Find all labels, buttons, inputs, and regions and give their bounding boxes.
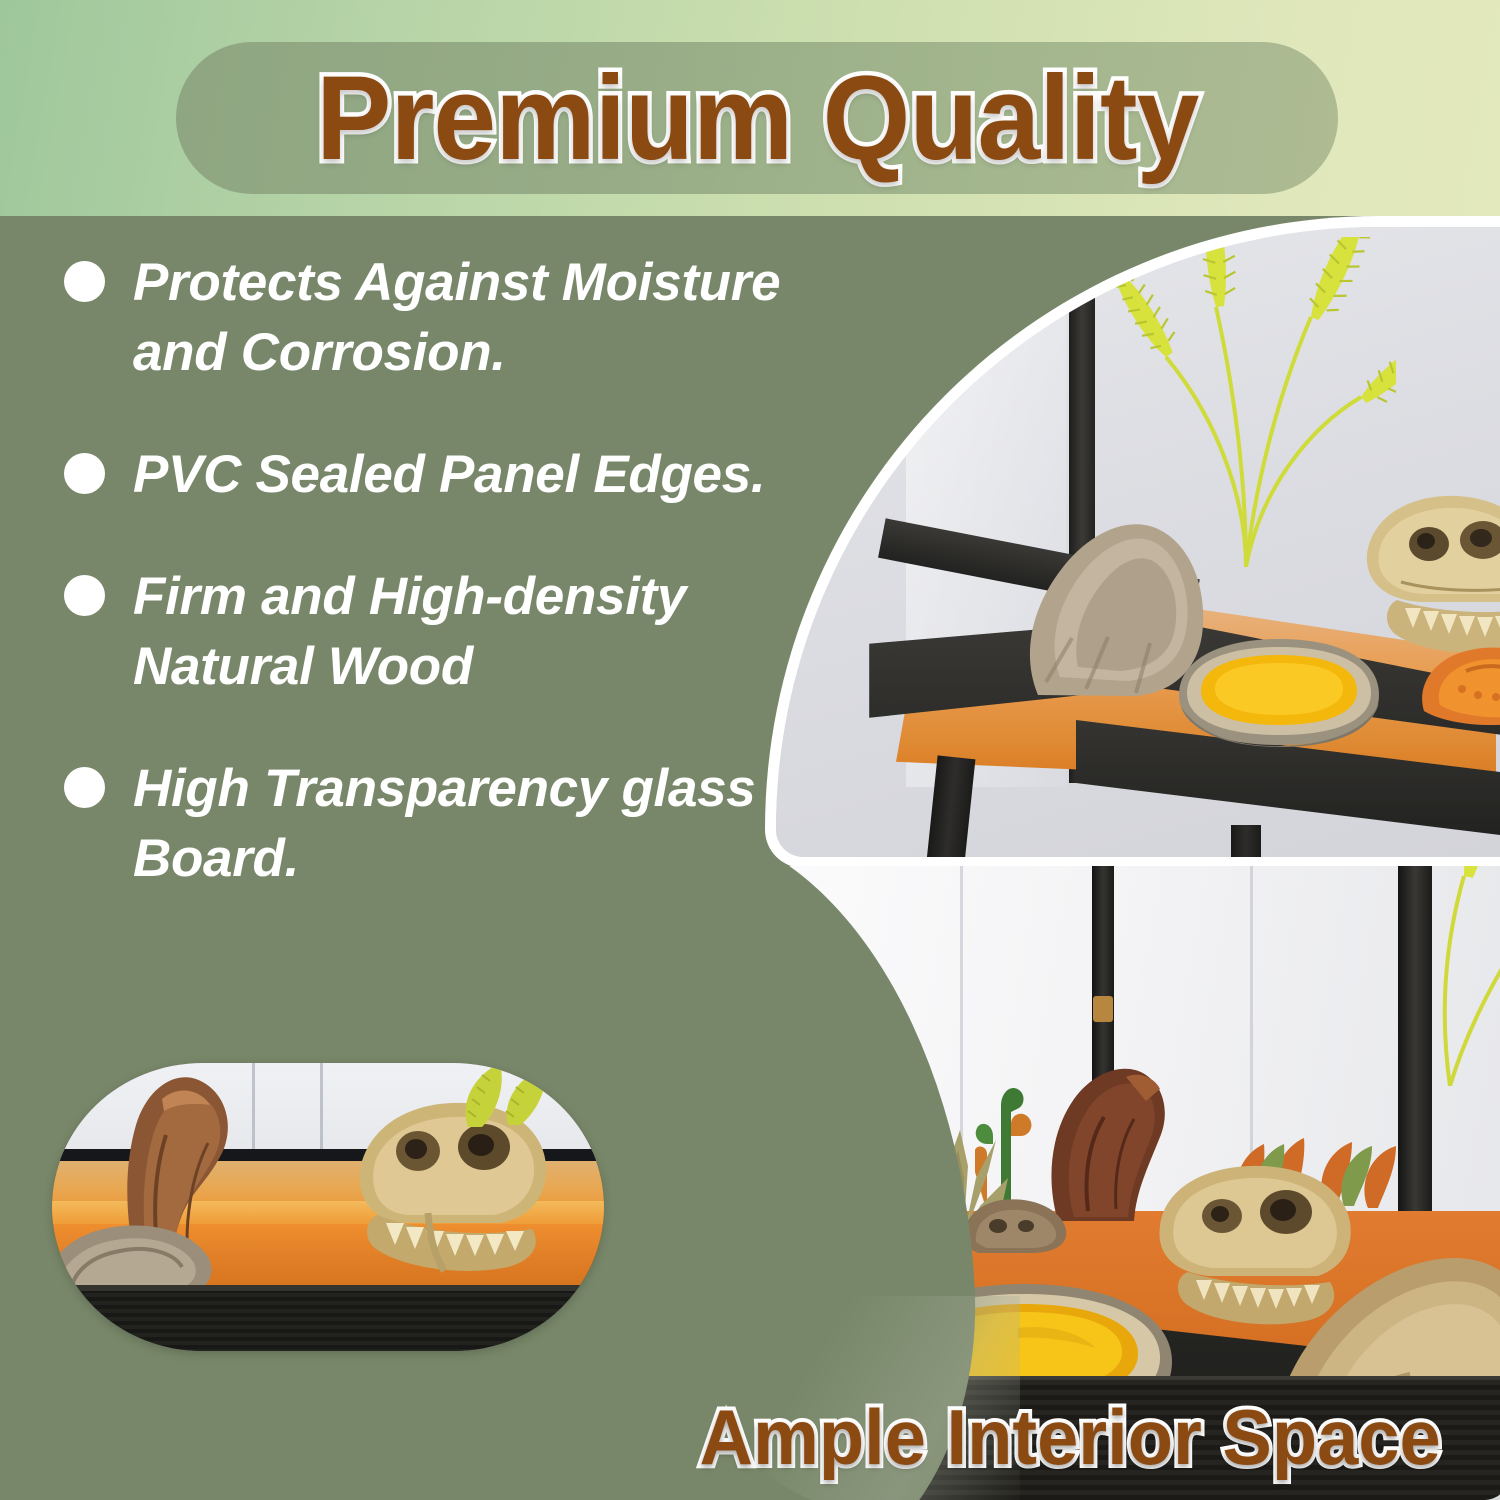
bullet-label: PVC Sealed Panel Edges. (133, 445, 765, 504)
list-item: Protects Against Moisture and Corrosion. (62, 248, 852, 388)
fern-plant-icon (1390, 866, 1500, 1086)
list-item: PVC Sealed Panel Edges. (62, 440, 852, 510)
list-item: Firm and High-density Natural Wood (62, 562, 852, 702)
feature-bullet-list: Protects Against Moisture and Corrosion.… (62, 248, 852, 946)
infographic-root: Premium Quality Protects Against Moistur… (0, 0, 1500, 1500)
stand-leg (1231, 825, 1261, 857)
photo-panel-top-right (765, 216, 1500, 868)
bottom-caption: Ample Interior Space (640, 1398, 1500, 1476)
caption-label: Ample Interior Space (699, 1398, 1440, 1476)
bullet-label: Firm and High-density Natural Wood (133, 567, 686, 696)
bullet-dot-icon (64, 575, 105, 616)
rock-decor-icon (52, 1215, 212, 1295)
terrarium-corner-photo (776, 227, 1500, 857)
water-dish-icon (1171, 633, 1386, 748)
bullet-dot-icon (64, 453, 105, 494)
bullet-dot-icon (64, 767, 105, 808)
fern-leaf-icon (452, 1063, 562, 1129)
bullet-dot-icon (64, 261, 105, 302)
photo-arc-frame (765, 216, 1500, 868)
title-banner: Premium Quality (176, 42, 1338, 194)
bullet-label: Protects Against Moisture and Corrosion. (133, 253, 780, 382)
bearded-dragon-icon (1416, 619, 1500, 729)
page-title: Premium Quality (316, 58, 1198, 178)
wood-base (52, 1285, 604, 1351)
inset-photo-left (52, 1063, 604, 1351)
small-skull-decor-icon (960, 1184, 1070, 1254)
door-hinge-icon (1093, 996, 1113, 1022)
